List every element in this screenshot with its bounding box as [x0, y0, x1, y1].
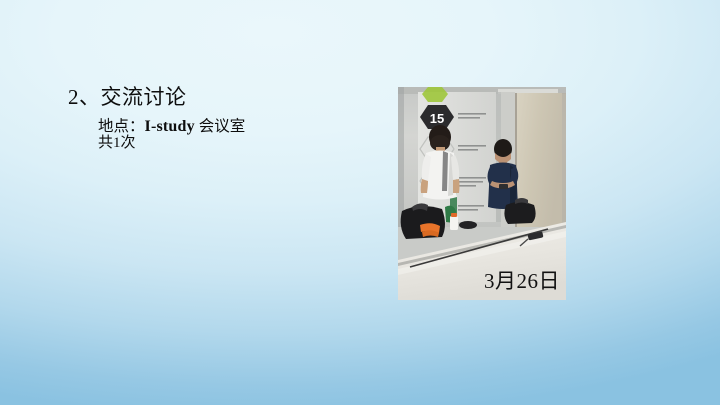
- detail-line-location: 地点：I-study 会议室: [98, 118, 388, 135]
- detail-location-prefix: 地点：: [98, 118, 145, 135]
- photo-date-caption: 3月26日: [484, 270, 560, 293]
- detail-line-count: 共1次: [98, 135, 388, 152]
- poster-number-text: 15: [430, 111, 444, 126]
- meeting-photo: 15: [398, 87, 566, 300]
- detail-list: 地点：I-study 会议室 共1次: [68, 118, 388, 152]
- detail-location-suffix: 会议室: [195, 118, 245, 135]
- section-heading: 2、交流讨论: [68, 84, 388, 110]
- content-text-block: 2、交流讨论 地点：I-study 会议室 共1次: [68, 84, 388, 152]
- slide-canvas: 2、交流讨论 地点：I-study 会议室 共1次: [0, 0, 720, 405]
- detail-location-emphasis: I-study: [145, 118, 195, 135]
